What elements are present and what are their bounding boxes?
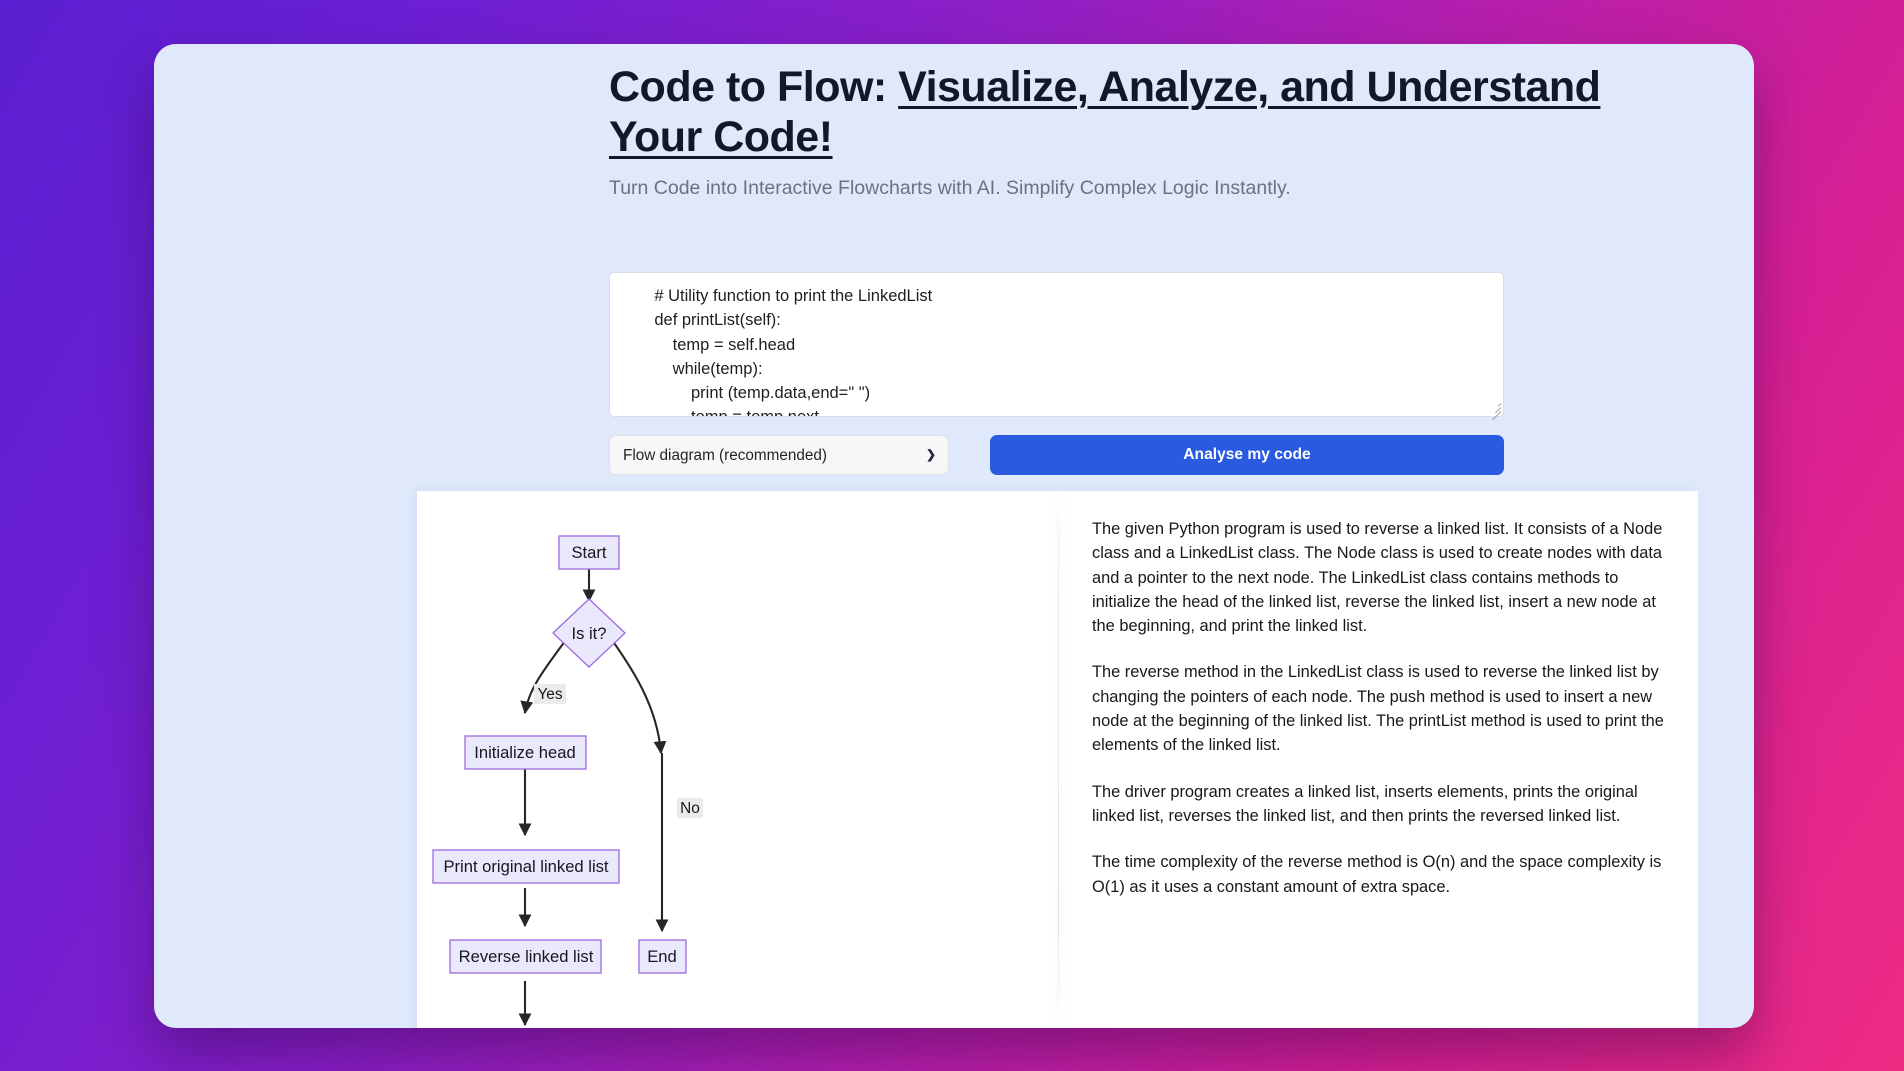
flow-node-print-original-label: Print original linked list <box>443 857 608 876</box>
edge-label-no: No <box>680 800 700 817</box>
flow-node-initialize-head-label: Initialize head <box>474 743 575 762</box>
flow-node-start-label: Start <box>571 543 606 562</box>
explanation-paragraph: The reverse method in the LinkedList cla… <box>1092 660 1664 757</box>
analyse-my-code-button[interactable]: Analyse my code <box>990 435 1504 475</box>
results-panel: Yes No Start Is it? Initialize head <box>417 491 1698 1028</box>
flow-node-decision[interactable]: Is it? <box>553 599 625 667</box>
page-title-plain: Code to Flow: <box>609 63 898 111</box>
flow-node-print-original[interactable]: Print original linked list <box>433 850 619 883</box>
flowchart-pane: Yes No Start Is it? Initialize head <box>417 491 1058 1028</box>
code-input[interactable] <box>609 272 1504 417</box>
flow-node-reverse-label: Reverse linked list <box>459 947 594 966</box>
edge-decision-no-curve <box>607 633 661 753</box>
explanation-paragraph: The given Python program is used to reve… <box>1092 517 1664 638</box>
page-title: Code to Flow: Visualize, Analyze, and Un… <box>154 44 1754 163</box>
flow-node-reverse[interactable]: Reverse linked list <box>450 940 601 973</box>
edge-label-yes: Yes <box>537 686 562 703</box>
flow-node-decision-label: Is it? <box>571 624 606 643</box>
page-subtitle: Turn Code into Interactive Flowcharts wi… <box>154 163 1754 200</box>
flow-node-start[interactable]: Start <box>559 536 619 569</box>
flowchart-diagram[interactable]: Yes No Start Is it? Initialize head <box>417 491 1058 1028</box>
explanation-paragraph: The time complexity of the reverse metho… <box>1092 850 1664 899</box>
explanation-pane: The given Python program is used to reve… <box>1059 491 1698 1028</box>
diagram-type-select[interactable]: Flow diagram (recommended)Sequence diagr… <box>609 435 949 475</box>
diagram-type-select-wrapper: Flow diagram (recommended)Sequence diagr… <box>609 435 949 475</box>
form-controls-row: Flow diagram (recommended)Sequence diagr… <box>609 435 1504 475</box>
flow-node-initialize-head[interactable]: Initialize head <box>465 736 586 769</box>
app-card: Code to Flow: Visualize, Analyze, and Un… <box>154 44 1754 1028</box>
flow-node-end-label: End <box>647 947 677 966</box>
explanation-paragraph: The driver program creates a linked list… <box>1092 780 1664 829</box>
hero-section: Code to Flow: Visualize, Analyze, and Un… <box>154 44 1754 200</box>
code-analysis-form: Flow diagram (recommended)Sequence diagr… <box>609 272 1504 475</box>
flow-node-end[interactable]: End <box>639 940 686 973</box>
